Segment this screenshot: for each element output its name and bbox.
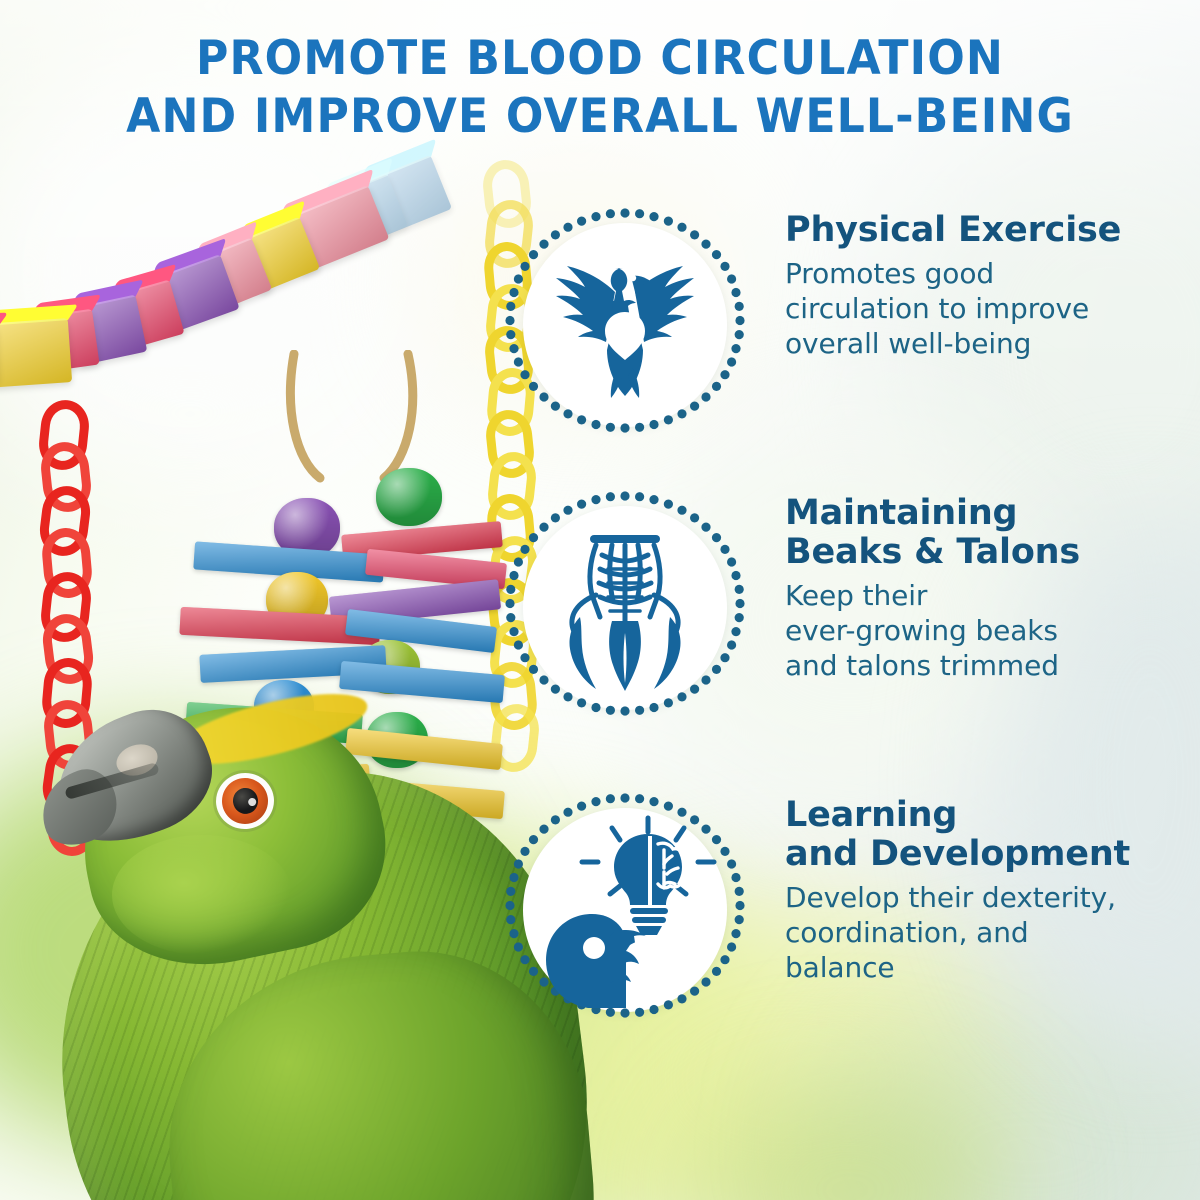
feature-learning-development: Learning and Development Develop their d… xyxy=(505,790,1165,1030)
feature-text-block: Physical Exercise Promotes good circulat… xyxy=(785,205,1121,361)
product-photo xyxy=(0,100,560,1200)
feature-text-block: Learning and Development Develop their d… xyxy=(785,790,1130,985)
feature-title: Learning and Development xyxy=(785,796,1130,874)
page-title: PROMOTE BLOOD CIRCULATION AND IMPROVE OV… xyxy=(36,30,1164,146)
feature-description: Promotes good circulation to improve ove… xyxy=(785,256,1121,361)
parrot-wings-heart-icon xyxy=(523,223,727,427)
bird-talon-claw-icon xyxy=(523,506,727,710)
parrot-cheek xyxy=(112,835,292,955)
parrot-iris xyxy=(219,775,271,827)
feature-text-block: Maintaining Beaks & Talons Keep their ev… xyxy=(785,488,1080,683)
feature-physical-exercise: Physical Exercise Promotes good circulat… xyxy=(505,205,1165,445)
feature-maintaining-beaks-talons: Maintaining Beaks & Talons Keep their ev… xyxy=(505,488,1165,728)
eye-glint xyxy=(248,797,257,806)
feature-description: Develop their dexterity, coordination, a… xyxy=(785,880,1130,985)
icon-ring-learning-development xyxy=(505,790,745,1030)
feature-title: Physical Exercise xyxy=(785,211,1121,250)
infographic-canvas: Physical Exercise Promotes good circulat… xyxy=(0,0,1200,1200)
feature-title: Maintaining Beaks & Talons xyxy=(785,494,1080,572)
parrot-head-lightbulb-brain-icon xyxy=(523,808,727,1012)
icon-ring-physical-exercise xyxy=(505,205,745,445)
icon-ring-beaks-talons xyxy=(505,488,745,728)
feature-description: Keep their ever-growing beaks and talons… xyxy=(785,578,1080,683)
bulb-base xyxy=(630,908,668,935)
parrot-photo xyxy=(20,625,540,1200)
parrot-pupil xyxy=(231,786,259,815)
